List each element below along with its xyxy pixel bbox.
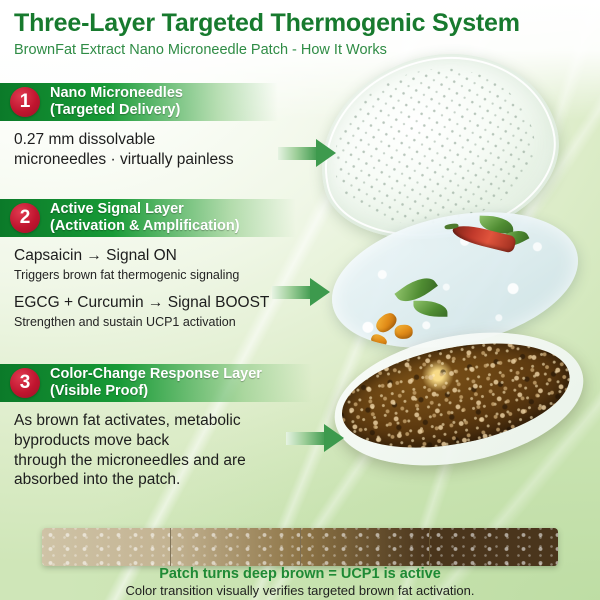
caption-headline: Patch turns deep brown = UCP1 is active — [0, 566, 600, 582]
step-3-body-line-4: absorbed into the patch. — [14, 470, 330, 490]
step-2: 2 Active Signal Layer (Activation & Ampl… — [0, 199, 320, 330]
step-3-body-line-1: As brown fat activates, metabolic — [14, 411, 330, 431]
step-2-body-sub-2: Strengthen and sustain UCP1 activation — [14, 314, 320, 331]
step-1-body-line-2: microneedles · virtually painless — [14, 150, 300, 170]
strip-caption: Patch turns deep brown = UCP1 is active … — [0, 566, 600, 598]
step-2-title-line1: Active Signal Layer — [50, 201, 240, 218]
step-1-title-line2: (Targeted Delivery) — [50, 102, 183, 119]
step-3-body-line-3: through the microneedles and are — [14, 451, 330, 471]
strip-segment-4 — [430, 528, 558, 566]
step-3-title: Color-Change Response Layer (Visible Pro… — [50, 366, 262, 400]
step-1-title-line1: Nano Microneedles — [50, 85, 183, 102]
step-2-header: 2 Active Signal Layer (Activation & Ampl… — [0, 199, 296, 237]
step-3-title-line2: (Visible Proof) — [50, 383, 262, 400]
step-3-body: As brown fat activates, metabolic byprod… — [0, 402, 330, 490]
strip-segment-1 — [42, 528, 171, 566]
header: Three-Layer Targeted Thermogenic System … — [14, 10, 594, 58]
strip-segment-2 — [171, 528, 300, 566]
step-2-arrow-icon — [272, 278, 332, 306]
step-1: 1 Nano Microneedles (Targeted Delivery) … — [0, 83, 300, 170]
step-3: 3 Color-Change Response Layer (Visible P… — [0, 364, 330, 490]
step-3-badge: 3 — [10, 368, 40, 398]
step-1-body: 0.27 mm dissolvable microneedles · virtu… — [0, 121, 300, 170]
step-3-header: 3 Color-Change Response Layer (Visible P… — [0, 364, 312, 402]
step-1-title: Nano Microneedles (Targeted Delivery) — [50, 85, 183, 119]
color-transition-strip — [42, 528, 558, 566]
step-2-title-line2: (Activation & Amplification) — [50, 218, 240, 235]
strip-segment-3 — [301, 528, 430, 566]
step-3-arrow-icon — [286, 424, 346, 452]
step-1-badge: 1 — [10, 87, 40, 117]
step-3-title-line1: Color-Change Response Layer — [50, 366, 262, 383]
caption-subline: Color transition visually verifies targe… — [0, 583, 600, 598]
infographic-canvas: Three-Layer Targeted Thermogenic System … — [0, 0, 600, 600]
step-2-body-line-1: Capsaicin → Signal ON — [14, 246, 320, 266]
step-1-header: 1 Nano Microneedles (Targeted Delivery) — [0, 83, 278, 121]
step-2-title: Active Signal Layer (Activation & Amplif… — [50, 201, 240, 235]
page-title: Three-Layer Targeted Thermogenic System — [14, 10, 594, 37]
step-1-arrow-icon — [278, 139, 338, 167]
page-subtitle: BrownFat Extract Nano Microneedle Patch … — [14, 42, 594, 58]
step-2-badge: 2 — [10, 203, 40, 233]
step-3-body-line-2: byproducts move back — [14, 431, 330, 451]
step-1-body-line-1: 0.27 mm dissolvable — [14, 130, 300, 150]
